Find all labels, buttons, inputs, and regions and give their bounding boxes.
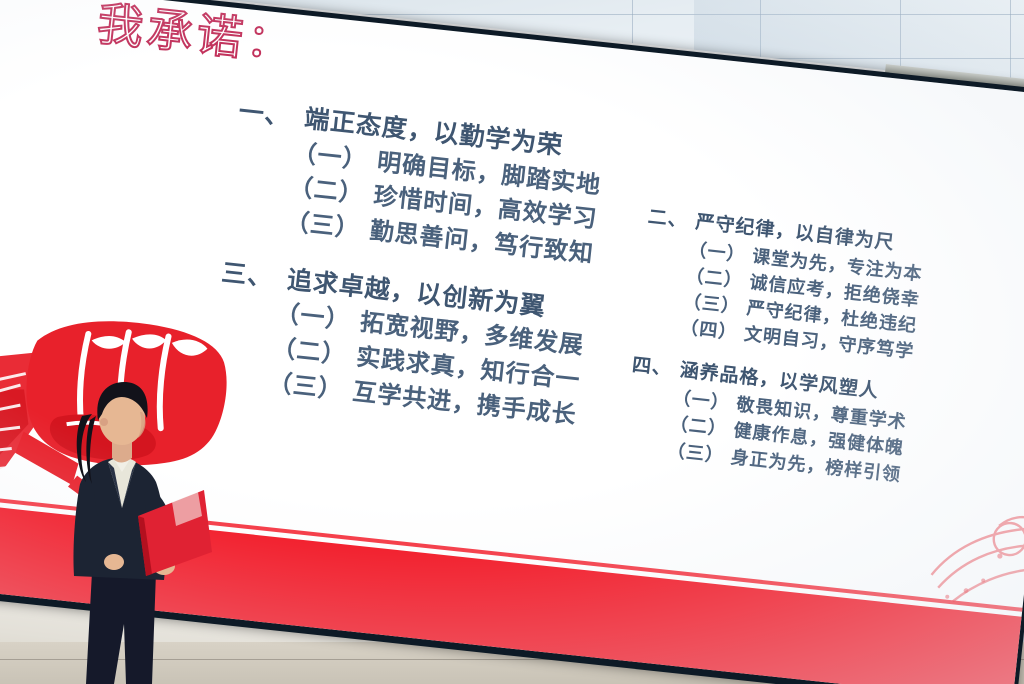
item-marker: （一） — [291, 139, 368, 174]
item-marker: （三） — [284, 208, 361, 243]
item-marker: （三） — [267, 369, 344, 404]
item-marker: （一） — [274, 300, 351, 335]
item-marker: （四） — [679, 317, 738, 343]
section-number: 二、 — [647, 207, 689, 232]
item-marker: （二） — [270, 335, 347, 370]
item-marker: （三） — [682, 291, 741, 317]
presenter-person — [52, 376, 222, 684]
section-number: 三、 — [220, 259, 275, 292]
slide-right-column: 二、严守纪律，以自律为尺 （一）课堂为先，专注为本 （二）诚信应考，拒绝侥幸 （… — [622, 205, 927, 492]
item-marker: （二） — [685, 265, 744, 291]
screenshot-root: 我承诺： 一、端正态度，以勤学为荣 （一）明确目标，脚踏实地 （二）珍惜时间，高… — [0, 0, 1024, 684]
item-marker: （三） — [666, 440, 725, 466]
item-marker: （一） — [672, 388, 731, 414]
section-two: 二、严守纪律，以自律为尺 （一）课堂为先，专注为本 （二）诚信应考，拒绝侥幸 （… — [635, 205, 926, 365]
section-number: 一、 — [237, 98, 292, 131]
slide-title: 我承诺： — [95, 0, 299, 69]
slide-left-column: 一、端正态度，以勤学为荣 （一）明确目标，脚踏实地 （二）珍惜时间，高效学习 （… — [208, 95, 606, 438]
item-marker: （一） — [688, 239, 747, 265]
item-marker: （二） — [669, 414, 728, 440]
item-marker: （二） — [288, 174, 365, 209]
section-number: 四、 — [631, 355, 673, 380]
